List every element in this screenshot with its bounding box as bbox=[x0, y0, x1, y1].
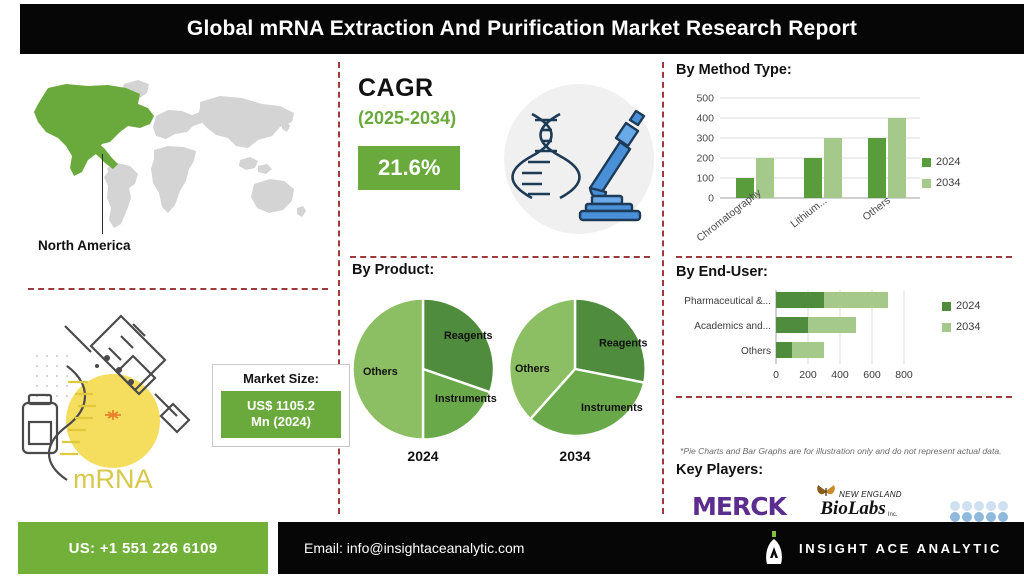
ytick-0: 0 bbox=[708, 193, 714, 205]
bar-pharma-2024 bbox=[776, 292, 824, 308]
xtick-400: 400 bbox=[831, 369, 849, 381]
xtick-600: 600 bbox=[863, 369, 881, 381]
map-pointer-line bbox=[102, 154, 103, 234]
market-size-value-line2: Mn (2024) bbox=[225, 414, 337, 430]
mrna-illustration: mRNA bbox=[5, 298, 220, 513]
footer: US: +1 551 226 6109 Email: info@insighta… bbox=[0, 522, 1024, 576]
legend-label-2024: 2024 bbox=[936, 156, 960, 168]
ytick-500: 500 bbox=[696, 93, 714, 105]
bar-pharma-2034 bbox=[824, 292, 888, 308]
divider-horizontal-right-top bbox=[676, 256, 1012, 258]
pie-label-others: Others bbox=[515, 363, 550, 375]
mrna-vaccine-icon: mRNA bbox=[5, 298, 220, 513]
legend-swatch-2024 bbox=[942, 302, 951, 311]
footer-phone: US: +1 551 226 6109 bbox=[69, 540, 218, 557]
pie-label-reagents: Reagents bbox=[444, 330, 493, 342]
by-enduser-section: By End-User: Pharmaceutical &... Academi… bbox=[676, 264, 1020, 394]
pie-label-instruments: Instruments bbox=[435, 393, 497, 405]
by-enduser-title: By End-User: bbox=[676, 264, 1020, 280]
xtick-200: 200 bbox=[799, 369, 817, 381]
divider-horizontal-middle bbox=[350, 256, 650, 258]
bar-others-2024 bbox=[776, 342, 792, 358]
microscope-icon bbox=[580, 111, 644, 220]
footer-brand: INSIGHT ACE ANALYTIC bbox=[761, 522, 1002, 574]
legend-label-2034: 2034 bbox=[936, 177, 960, 189]
chart-disclaimer: *Pie Charts and Bar Graphs are for illus… bbox=[680, 446, 1020, 456]
header-bar: Global mRNA Extraction And Purification … bbox=[20, 4, 1024, 54]
pie-year-2034: 2034 bbox=[500, 448, 650, 464]
xtick-800: 800 bbox=[895, 369, 913, 381]
pie-year-2024: 2024 bbox=[348, 448, 498, 464]
by-method-section: By Method Type: 500 400 300 200 10 bbox=[676, 62, 1020, 252]
pie-label-instruments: Instruments bbox=[581, 402, 643, 414]
pie-2024-svg: Reagents Instruments Others bbox=[348, 294, 498, 444]
body-area: North America bbox=[0, 58, 1024, 518]
footer-info-block: Email: info@insightaceanalytic.com INSIG… bbox=[278, 522, 1024, 574]
cat-pharmaceutical: Pharmaceutical &... bbox=[684, 296, 771, 307]
legend-label-2024: 2024 bbox=[956, 300, 980, 312]
pie-2034-svg: Reagents Instruments Others bbox=[500, 294, 650, 444]
logo-merck: MERCK bbox=[692, 492, 786, 521]
market-size-box: Market Size: US$ 1105.2 Mn (2024) bbox=[212, 364, 350, 447]
logo-neb-suffix: Inc. bbox=[888, 512, 898, 518]
cagr-section: CAGR (2025-2034) 21.6% bbox=[352, 68, 652, 243]
legend-item-2034: 2034 bbox=[922, 177, 960, 189]
infographic-page: Global mRNA Extraction And Purification … bbox=[0, 0, 1024, 576]
legend-swatch-2034 bbox=[942, 323, 951, 332]
bar-academics-2034 bbox=[808, 317, 856, 333]
bar-others-2034 bbox=[792, 342, 824, 358]
market-size-value: US$ 1105.2 Mn (2024) bbox=[221, 391, 341, 438]
method-bar-chart: 500 400 300 200 100 0 C bbox=[676, 88, 1020, 248]
footer-brand-text: INSIGHT ACE ANALYTIC bbox=[799, 541, 1002, 556]
market-size-value-line1: US$ 1105.2 bbox=[225, 398, 337, 414]
cagr-years: (2025-2034) bbox=[358, 108, 456, 129]
world-map bbox=[14, 68, 324, 248]
bar-others-2024 bbox=[868, 138, 886, 198]
cat-academics: Academics and... bbox=[694, 321, 771, 332]
bar-lithium-2024 bbox=[804, 158, 822, 198]
pie-label-others: Others bbox=[363, 366, 398, 378]
by-product-title: By Product: bbox=[352, 262, 658, 278]
dna-helix-icon bbox=[513, 114, 580, 198]
divider-horizontal-left bbox=[28, 288, 328, 290]
ytick-200: 200 bbox=[696, 153, 714, 165]
butterfly-icon bbox=[816, 484, 836, 499]
world-map-icon bbox=[14, 68, 324, 248]
legend-item-2024: 2024 bbox=[922, 156, 960, 168]
north-america-highlight bbox=[34, 84, 154, 176]
legend-swatch-2024 bbox=[922, 158, 931, 167]
legend-label-2034: 2034 bbox=[956, 321, 980, 333]
pie-chart-2034: Reagents Instruments Others 2034 bbox=[500, 294, 650, 464]
by-method-title: By Method Type: bbox=[676, 62, 1020, 78]
bar-lithium-2034 bbox=[824, 138, 842, 198]
footer-phone-block: US: +1 551 226 6109 bbox=[18, 522, 268, 574]
ytick-300: 300 bbox=[696, 133, 714, 145]
legend-item-2034: 2034 bbox=[942, 321, 980, 333]
region-label: North America bbox=[38, 238, 131, 253]
cagr-label: CAGR bbox=[358, 74, 434, 103]
xtick-others: Others bbox=[860, 195, 892, 224]
mrna-text: mRNA bbox=[73, 464, 153, 494]
enduser-legend: 2024 2034 bbox=[942, 300, 980, 342]
legend-swatch-2034 bbox=[922, 179, 931, 188]
legend-item-2024: 2024 bbox=[942, 300, 980, 312]
logo-new-england-biolabs: NEW ENGLAND BioLabs Inc. bbox=[816, 484, 902, 518]
bar-others-2034 bbox=[888, 118, 906, 198]
cagr-value: 21.6% bbox=[358, 146, 460, 190]
ytick-100: 100 bbox=[696, 173, 714, 185]
pie-label-reagents: Reagents bbox=[599, 338, 648, 350]
divider-horizontal-right-bottom bbox=[676, 396, 1012, 398]
cat-others: Others bbox=[741, 346, 771, 357]
divider-vertical-right bbox=[662, 62, 664, 514]
pie-charts: Reagents Instruments Others 2024 Re bbox=[352, 294, 658, 504]
xtick-chromatography: Chromatography bbox=[694, 186, 764, 244]
xtick-lithium: Lithium... bbox=[788, 195, 829, 231]
key-players-title: Key Players: bbox=[676, 462, 1020, 478]
science-illustration bbox=[504, 84, 654, 234]
xtick-0: 0 bbox=[773, 369, 779, 381]
footer-email: Email: info@insightaceanalytic.com bbox=[304, 540, 524, 556]
page-title: Global mRNA Extraction And Purification … bbox=[187, 17, 857, 41]
insight-ace-logo-icon bbox=[761, 531, 787, 565]
pie-chart-2024: Reagents Instruments Others 2024 bbox=[348, 294, 498, 464]
bar-academics-2024 bbox=[776, 317, 808, 333]
by-product-section: By Product: Reagents Instruments Others bbox=[352, 262, 658, 512]
logo-neb-main: BioLabs bbox=[820, 499, 885, 518]
method-legend: 2024 2034 bbox=[922, 156, 960, 198]
market-size-title: Market Size: bbox=[221, 371, 341, 386]
ytick-400: 400 bbox=[696, 113, 714, 125]
